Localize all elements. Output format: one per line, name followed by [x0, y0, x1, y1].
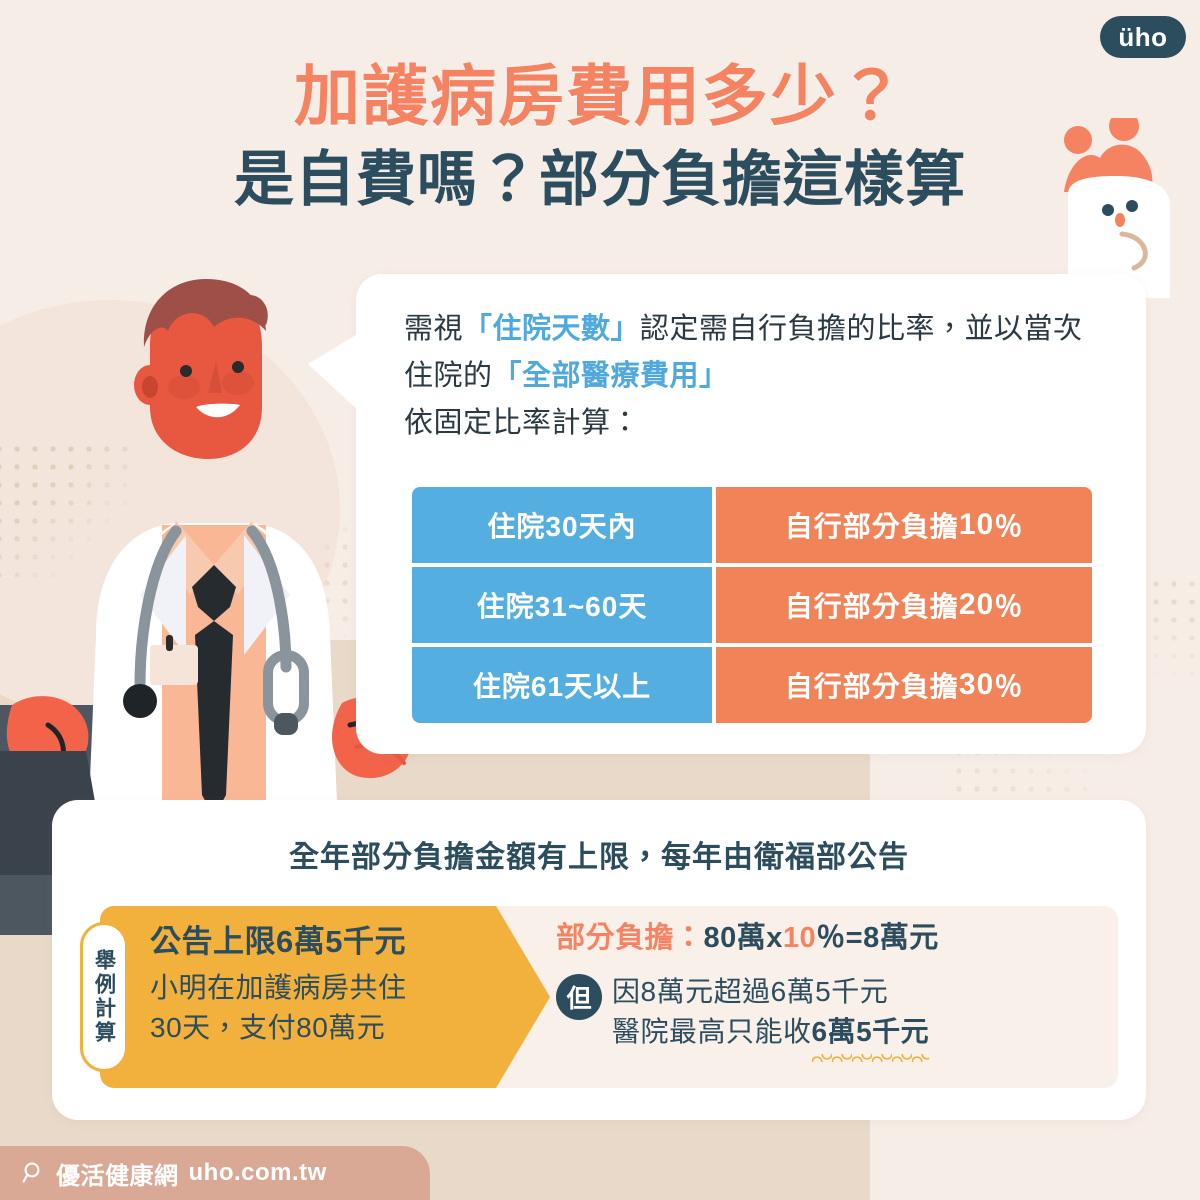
table-row-duration: 住院31~60天 [412, 567, 712, 643]
intro-highlight-1: 「住院天數」 [463, 313, 640, 345]
copay-formula-b: ％=8萬元 [816, 922, 939, 954]
example-note-lines: 因8萬元超過6萬5千元 醫院最高只能收6萬5千元 [612, 972, 929, 1053]
table-row-share: 自行部分負擔20％ [716, 567, 1092, 643]
share-value: 30 [959, 668, 994, 702]
title-line-1: 加護病房費用多少？ [0, 60, 1200, 134]
example-badge: 舉例計算 [80, 922, 128, 1072]
page-title: 加護病房費用多少？ 是自費嗎？部分負擔這樣算 [0, 60, 1200, 216]
example-note: 但 因8萬元超過6萬5千元 醫院最高只能收6萬5千元 [556, 972, 1106, 1053]
table-row-share: 自行部分負擔30％ [716, 647, 1092, 723]
share-unit: ％ [994, 505, 1023, 545]
share-unit: ％ [994, 665, 1023, 705]
intro-part-1: 需視 [404, 313, 463, 345]
example-calculation: 部分負擔：80萬x10％=8萬元 但 因8萬元超過6萬5千元 醫院最高只能收6萬… [556, 920, 1106, 1053]
share-value: 20 [959, 588, 994, 622]
example-cap-title: 公告上限6萬5千元 [150, 922, 520, 962]
uho-logo[interactable]: üho [1100, 16, 1186, 58]
table-row-duration: 住院61天以上 [412, 647, 712, 723]
example-scenario-text: 小明在加護病房共住 30天，支付80萬元 [150, 968, 520, 1048]
infographic-canvas: üho 加護病房費用多少？ 是自費嗎？部分負擔這樣算 [0, 0, 1200, 1200]
intro-part-3: 依固定比率計算： [404, 407, 640, 439]
table-row-duration: 住院30天內 [412, 487, 712, 563]
share-unit: ％ [994, 585, 1023, 625]
but-chip: 但 [556, 974, 602, 1020]
example-scenario-line-1: 小明在加護病房共住 [150, 972, 407, 1003]
intro-paragraph: 需視「住院天數」認定需自行負擔的比率，並以當次住院的「全部醫療費用」 依固定比率… [404, 306, 1094, 447]
share-prefix: 自行部分負擔 [785, 505, 959, 545]
example-note-line-2-strong: 6萬5千元 [812, 1012, 930, 1053]
copay-formula-percent: 10 [783, 922, 816, 954]
example-note-line-2-prefix: 醫院最高只能收 [612, 1016, 812, 1047]
share-value: 10 [959, 508, 994, 542]
share-prefix: 自行部分負擔 [785, 585, 959, 625]
example-badge-label: 舉例計算 [94, 949, 115, 1045]
intro-highlight-2: 「全部醫療費用」 [493, 360, 729, 392]
example-scenario: 公告上限6萬5千元 小明在加護病房共住 30天，支付80萬元 [150, 922, 520, 1048]
site-footer: 優活健康網 uho.com.tw [0, 1146, 430, 1200]
title-line-2: 是自費嗎？部分負擔這樣算 [0, 144, 1200, 216]
footer-url: uho.com.tw [189, 1159, 327, 1187]
table-row-share: 自行部分負擔10％ [716, 487, 1092, 563]
copay-formula-a: 80萬x [704, 922, 783, 954]
copay-formula-label: 部分負擔： [556, 922, 704, 954]
footer-site-name: 優活健康網 [56, 1156, 179, 1191]
search-icon [22, 1161, 46, 1185]
copay-rate-table: 住院30天內 自行部分負擔10％ 住院31~60天 自行部分負擔20％ 住院61… [412, 487, 1088, 723]
example-scenario-line-2: 30天，支付80萬元 [150, 1012, 385, 1043]
copay-formula: 部分負擔：80萬x10％=8萬元 [556, 920, 1106, 958]
share-prefix: 自行部分負擔 [785, 665, 959, 705]
example-note-line-1: 因8萬元超過6萬5千元 [612, 976, 888, 1007]
speech-bubble-tail [308, 330, 364, 416]
uho-logo-text: üho [1118, 24, 1167, 50]
annual-cap-heading: 全年部分負擔金額有上限，每年由衛福部公告 [52, 832, 1146, 876]
